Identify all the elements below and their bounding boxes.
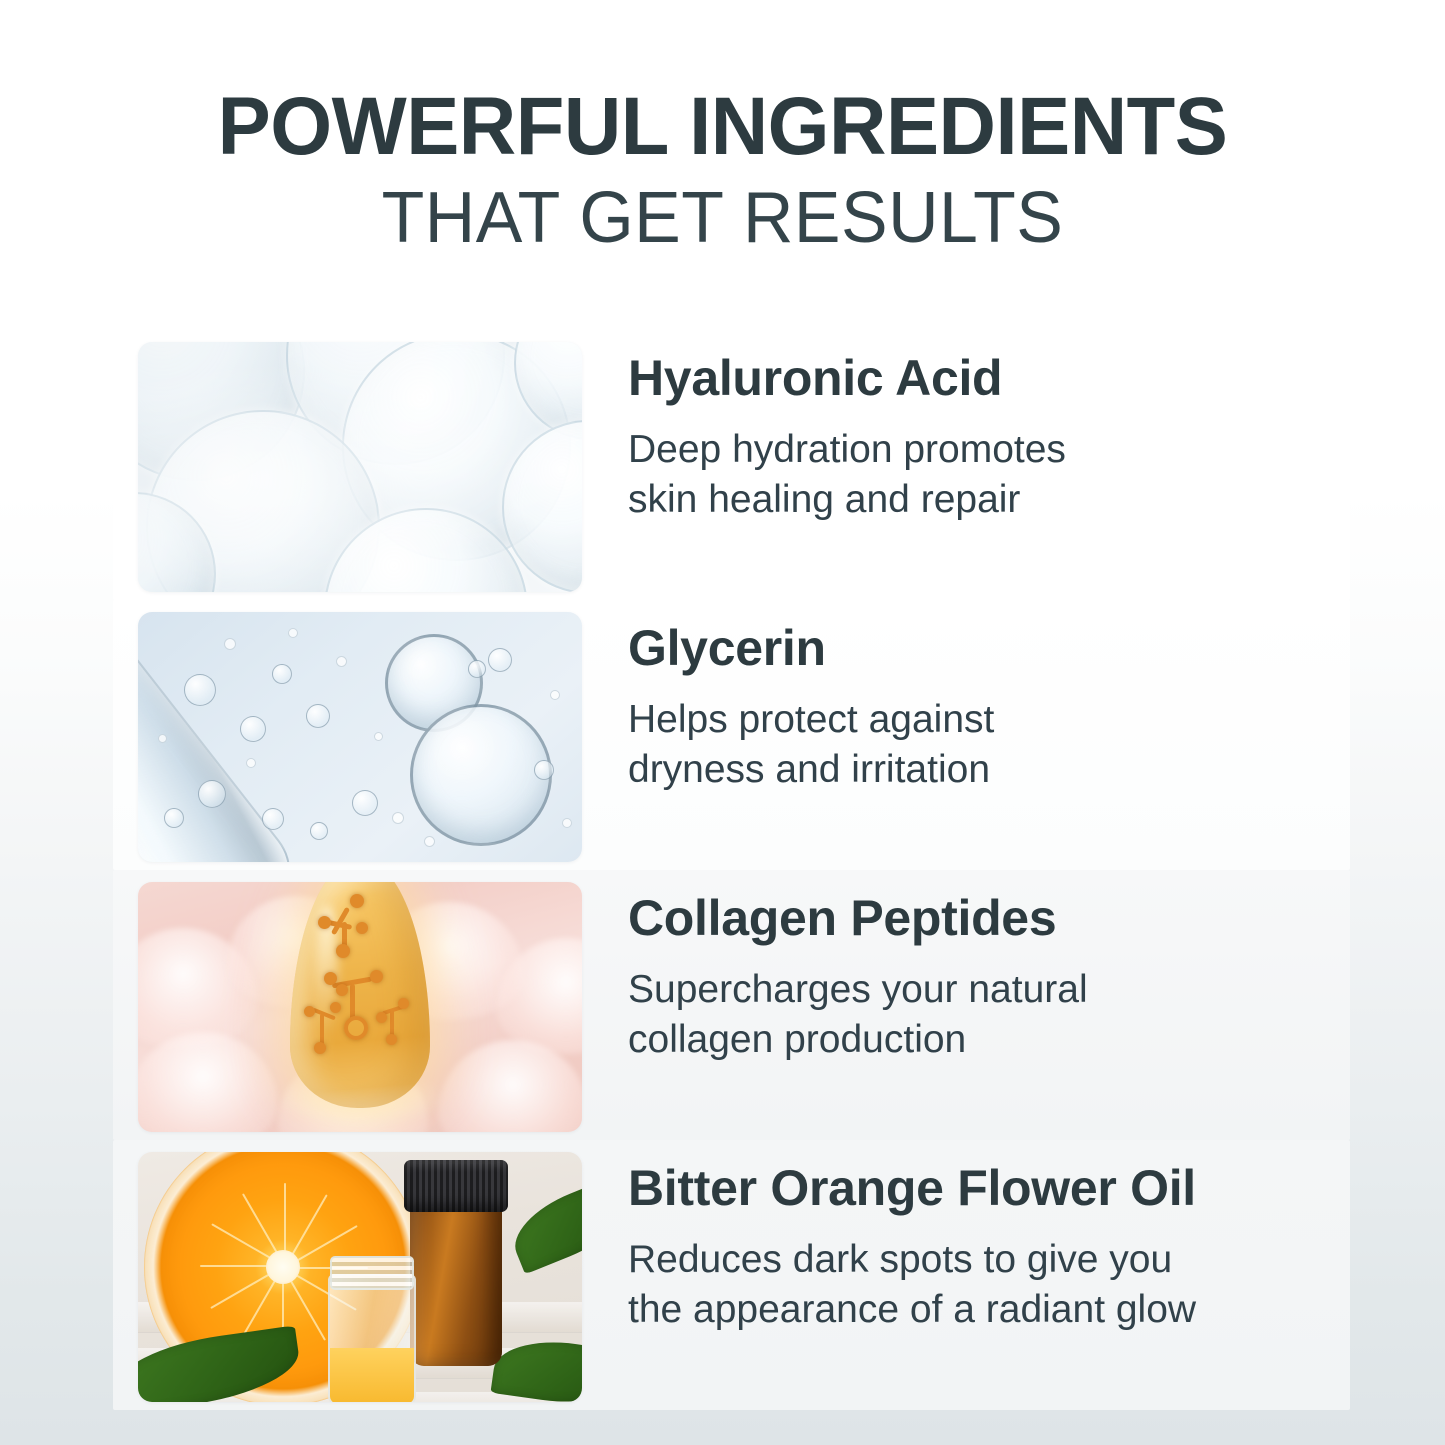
- ingredient-row: Collagen Peptides Supercharges your natu…: [0, 870, 1445, 1140]
- ingredient-description: Supercharges your natural collagen produ…: [628, 965, 1348, 1066]
- ingredient-name: Collagen Peptides: [628, 892, 1445, 945]
- description-line: Reduces dark spots to give you: [628, 1235, 1348, 1286]
- collagen-droplet-illustration: [138, 882, 582, 1132]
- glass-vial-shape: [328, 1274, 416, 1402]
- page-title-primary: POWERFUL INGREDIENTS: [22, 86, 1424, 168]
- ingredient-copy: Bitter Orange Flower Oil Reduces dark sp…: [628, 1162, 1445, 1336]
- description-line: Deep hydration promotes: [628, 425, 1348, 476]
- ingredient-name: Bitter Orange Flower Oil: [628, 1162, 1445, 1215]
- ingredient-copy: Glycerin Helps protect against dryness a…: [628, 622, 1445, 796]
- ingredient-thumbnail-glycerin: [138, 612, 582, 862]
- description-line: collagen production: [628, 1015, 1348, 1066]
- description-line: dryness and irritation: [628, 745, 1348, 796]
- ingredient-thumbnail-hyaluronic-acid: [138, 342, 582, 592]
- infographic-page: POWERFUL INGREDIENTS THAT GET RESULTS: [0, 0, 1445, 1445]
- ingredient-list: Hyaluronic Acid Deep hydration promotes …: [0, 330, 1445, 1410]
- ingredient-copy: Hyaluronic Acid Deep hydration promotes …: [628, 352, 1445, 526]
- ingredient-row: Glycerin Helps protect against dryness a…: [0, 600, 1445, 870]
- ingredient-thumbnail-collagen-peptides: [138, 882, 582, 1132]
- ingredient-name: Hyaluronic Acid: [628, 352, 1445, 405]
- ingredient-copy: Collagen Peptides Supercharges your natu…: [628, 892, 1445, 1066]
- water-bubbles-illustration: [138, 342, 582, 592]
- ingredient-row: Bitter Orange Flower Oil Reduces dark sp…: [0, 1140, 1445, 1410]
- description-line: skin healing and repair: [628, 475, 1348, 526]
- ingredient-thumbnail-bitter-orange-flower-oil: [138, 1152, 582, 1402]
- description-line: the appearance of a radiant glow: [628, 1285, 1348, 1336]
- serum-droplet-shape: [290, 882, 430, 1108]
- ingredient-row: Hyaluronic Acid Deep hydration promotes …: [0, 330, 1445, 600]
- ingredient-name: Glycerin: [628, 622, 1445, 675]
- amber-bottle-shape: [410, 1194, 502, 1366]
- ingredient-description: Helps protect against dryness and irrita…: [628, 695, 1348, 796]
- ingredient-description: Deep hydration promotes skin healing and…: [628, 425, 1348, 526]
- description-line: Supercharges your natural: [628, 965, 1348, 1016]
- bottle-cap-shape: [404, 1160, 508, 1212]
- page-title-secondary: THAT GET RESULTS: [22, 180, 1424, 258]
- orange-essential-oil-illustration: [138, 1152, 582, 1402]
- serum-dropper-illustration: [138, 612, 582, 862]
- ingredient-description: Reduces dark spots to give you the appea…: [628, 1235, 1348, 1336]
- description-line: Helps protect against: [628, 695, 1348, 746]
- page-heading: POWERFUL INGREDIENTS THAT GET RESULTS: [0, 86, 1445, 258]
